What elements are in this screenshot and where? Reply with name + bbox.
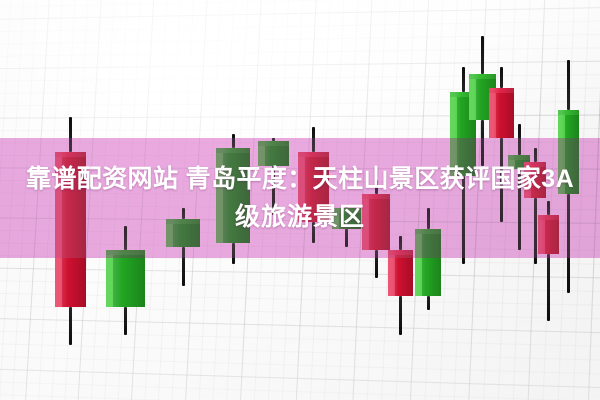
candle-wick-upper (481, 36, 484, 75)
candle-wick-lower (427, 296, 430, 310)
candle-wick-upper (500, 67, 503, 88)
candle-wick-upper (567, 60, 570, 109)
candle-wick-lower (399, 296, 402, 335)
headline-line-1: 靠谱配资网站 青岛平度：天柱山景区获评国家3A (26, 160, 574, 198)
candle-body (106, 250, 145, 306)
candle-wick-lower (69, 307, 72, 346)
headline-line-2: 级旅游景区 (235, 198, 365, 236)
banner-image: 靠谱配资网站 青岛平度：天柱山景区获评国家3A 级旅游景区 (0, 0, 600, 400)
candle-body-shading (106, 250, 145, 306)
candle-wick-lower (124, 307, 127, 335)
candle-wick-upper (462, 67, 465, 92)
banner-headline: 靠谱配资网站 青岛平度：天柱山景区获评国家3A 级旅游景区 (0, 138, 600, 258)
candle-wick-lower (547, 254, 550, 321)
